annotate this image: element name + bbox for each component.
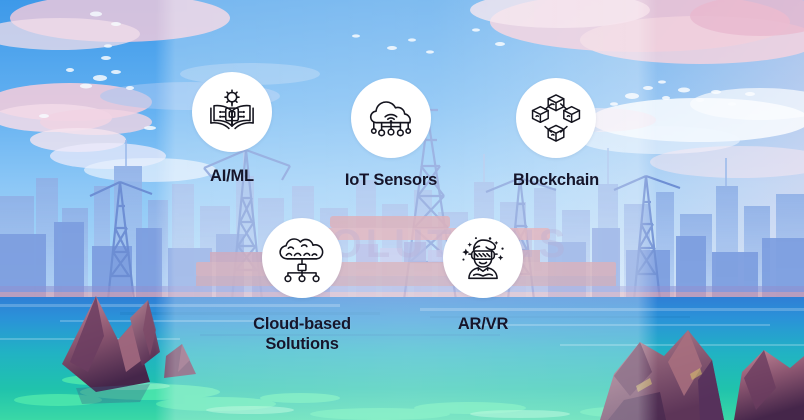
icon-bubble-iot[interactable]: [351, 78, 431, 158]
feature-card-blockchain[interactable]: Blockchain: [496, 78, 616, 190]
feature-card-label: AR/VR: [423, 314, 543, 334]
feature-card-cloud[interactable]: Cloud-based Solutions: [241, 218, 363, 355]
feature-card-iot[interactable]: IoT Sensors: [331, 78, 451, 190]
feature-card-label: Cloud-based Solutions: [241, 314, 363, 355]
feature-card-aiml[interactable]: AI/ML: [172, 72, 292, 186]
feature-card-label: Blockchain: [496, 170, 616, 190]
blockchain-cubes-icon: [531, 93, 581, 143]
cloud-wifi-nodes-icon: [366, 93, 416, 143]
ai-chip-book-gear-icon: [207, 87, 257, 137]
feature-card-arvr[interactable]: AR/VR: [423, 218, 543, 334]
cloud-network-tree-icon: [277, 233, 327, 283]
icon-bubble-arvr[interactable]: [443, 218, 523, 298]
feature-card-label: IoT Sensors: [331, 170, 451, 190]
icon-bubble-blockchain[interactable]: [516, 78, 596, 158]
feature-card-group: AI/ML: [0, 0, 804, 420]
icon-bubble-aiml[interactable]: [192, 72, 272, 152]
infographic-banner: SOLUTIONS: [0, 0, 804, 420]
vr-headset-person-icon: [458, 233, 508, 283]
feature-card-label: AI/ML: [172, 166, 292, 186]
icon-bubble-cloud[interactable]: [262, 218, 342, 298]
